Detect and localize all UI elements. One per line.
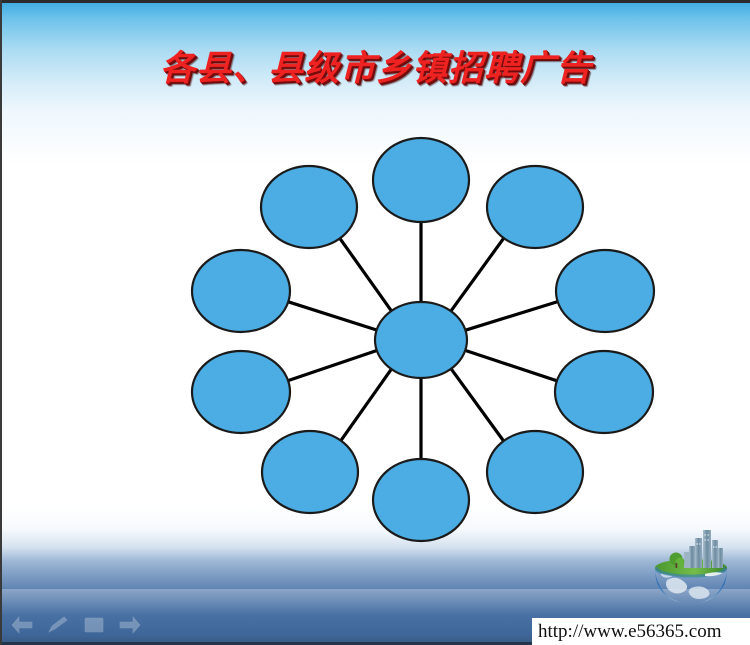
presentation-slide: 各县、县级市乡镇招聘广告 (0, 0, 750, 645)
node-lower-left[interactable] (262, 431, 358, 513)
pen-icon[interactable] (46, 615, 70, 635)
node-left-upper[interactable] (192, 250, 290, 332)
node-upper-left[interactable] (261, 166, 357, 248)
radial-diagram (2, 0, 750, 645)
node-left-lower[interactable] (192, 351, 290, 433)
connector-node-lower-right (451, 369, 504, 441)
slideshow-controls[interactable] (10, 615, 142, 635)
connector-node-right-upper (466, 302, 558, 331)
square-icon[interactable] (82, 615, 106, 635)
globe-city-logo (647, 528, 735, 608)
node-lower-right[interactable] (487, 431, 583, 513)
connector-node-upper-left (340, 238, 392, 311)
node-right-upper[interactable] (556, 250, 654, 332)
center-node[interactable] (375, 302, 467, 378)
watermark-url: http://www.e56365.com (532, 618, 750, 645)
connector-node-upper-right (451, 238, 504, 311)
node-bottom[interactable] (373, 459, 469, 541)
connector-node-left-upper (288, 302, 376, 330)
node-right-lower[interactable] (555, 351, 653, 433)
connector-node-left-lower (288, 351, 377, 381)
node-upper-right[interactable] (487, 166, 583, 248)
arrow-right-icon[interactable] (118, 615, 142, 635)
diagram-nodes (192, 138, 654, 541)
node-top[interactable] (373, 138, 469, 222)
connector-node-right-lower (465, 350, 557, 380)
arrow-left-icon[interactable] (10, 615, 34, 635)
connector-node-lower-left (341, 369, 392, 441)
